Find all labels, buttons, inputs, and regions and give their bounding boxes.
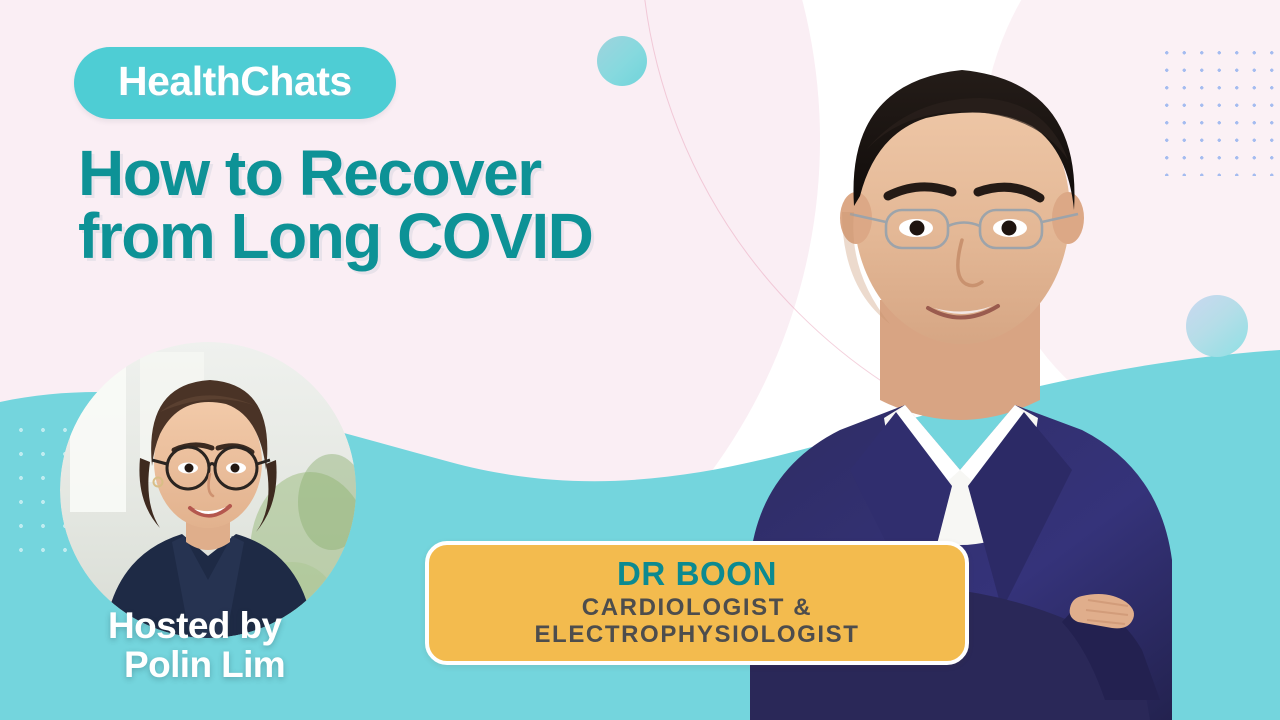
teal-gradient-circle-icon xyxy=(597,36,647,86)
brand-badge-label: HealthChats xyxy=(118,61,352,102)
host-name: Polin Lim xyxy=(108,645,428,684)
speaker-name: DR BOON xyxy=(617,557,777,592)
host-credit: Hosted by Polin Lim xyxy=(108,606,428,684)
brand-badge: HealthChats xyxy=(74,47,396,119)
video-title-card: HealthChats How to Recover from Long COV… xyxy=(0,0,1280,720)
headline-line-2: from Long COVID xyxy=(78,205,758,268)
hosted-by-label: Hosted by xyxy=(108,605,281,646)
speaker-role-line-1: CARDIOLOGIST & xyxy=(582,594,812,621)
speaker-name-card: DR BOON CARDIOLOGIST & ELECTROPHYSIOLOGI… xyxy=(425,541,969,665)
page-title: How to Recover from Long COVID xyxy=(78,142,758,267)
speaker-role: CARDIOLOGIST & ELECTROPHYSIOLOGIST xyxy=(534,595,859,649)
headline-line-1: How to Recover xyxy=(78,137,541,209)
host-portrait xyxy=(60,342,356,638)
speaker-role-line-2: ELECTROPHYSIOLOGIST xyxy=(534,622,859,649)
